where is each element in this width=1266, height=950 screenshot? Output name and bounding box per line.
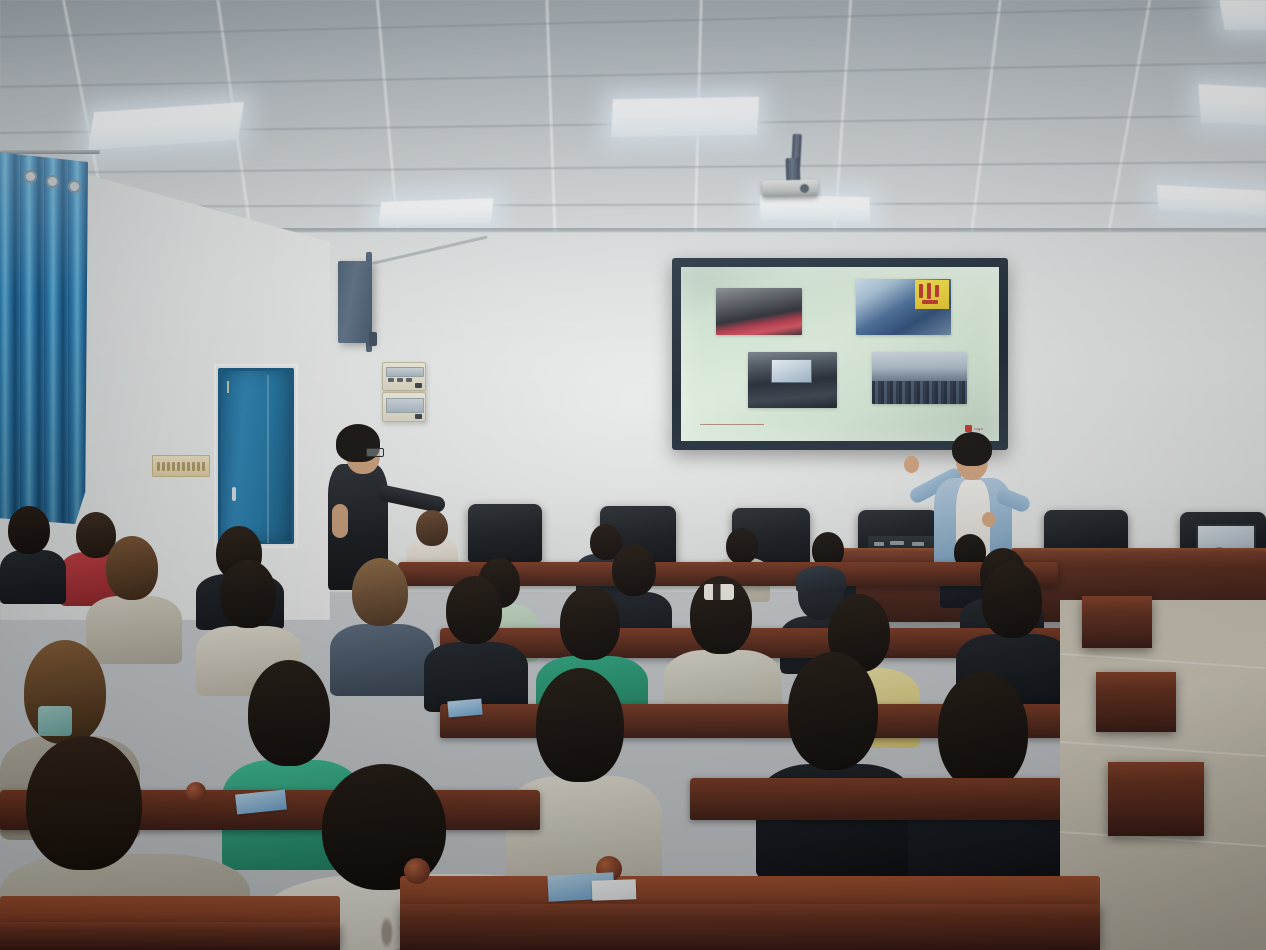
slide-photo-bottom-right xyxy=(872,352,967,404)
door-handle[interactable] xyxy=(232,487,236,501)
bench-desk[interactable] xyxy=(1108,762,1204,836)
ceiling-light xyxy=(1198,84,1266,130)
projector-lens xyxy=(800,184,809,193)
standing-man-forearm xyxy=(332,504,348,538)
wall-speaker xyxy=(338,261,372,343)
electrical-panel-upper[interactable] xyxy=(382,362,426,391)
audience-torso xyxy=(0,550,66,604)
presenter-hand xyxy=(904,456,919,473)
bench-knob xyxy=(404,858,430,884)
classroom-photo: logo xyxy=(0,0,1266,950)
speaker-mount xyxy=(369,332,377,346)
slide-photo-bottom-left xyxy=(748,352,837,408)
cap-icon xyxy=(796,566,846,592)
bench-desk[interactable] xyxy=(400,904,1100,950)
ceiling-light xyxy=(760,195,871,222)
audience-member xyxy=(0,504,66,600)
bench-desk[interactable] xyxy=(1082,596,1152,648)
bench-desk[interactable] xyxy=(0,922,340,950)
slide-poster xyxy=(915,280,949,309)
audience-head xyxy=(938,672,1028,790)
audience-member xyxy=(86,534,182,656)
hair-clip-icon xyxy=(38,706,72,736)
slide-photo-top-right xyxy=(856,279,951,335)
ceiling-light xyxy=(1157,185,1266,217)
audience-head xyxy=(106,536,158,600)
ceiling-light xyxy=(378,198,493,227)
audience-head xyxy=(8,506,50,554)
slide-photo-top-left xyxy=(716,288,802,335)
wall-sign xyxy=(152,455,210,477)
slide-caption-rule xyxy=(700,424,764,425)
classroom-door[interactable] xyxy=(218,368,294,544)
ceiling-light xyxy=(611,97,759,138)
projector xyxy=(762,180,818,198)
ceiling-light xyxy=(1219,0,1266,30)
curtain-grommet xyxy=(24,170,37,183)
curtain-grommet xyxy=(68,180,81,193)
slide-inner-screen xyxy=(771,359,812,383)
audience-member xyxy=(756,652,916,866)
front-chair[interactable] xyxy=(468,504,542,562)
audience-head xyxy=(446,576,502,644)
bench-desk[interactable] xyxy=(1096,672,1176,732)
slide-crowd xyxy=(872,381,967,404)
audience-head xyxy=(352,558,408,626)
audience-head xyxy=(220,560,276,628)
presenter-hand-lower xyxy=(982,512,996,527)
hair-clip-icon xyxy=(704,584,734,600)
curtain-highlight xyxy=(0,152,88,524)
audience-head xyxy=(726,528,758,564)
ceiling-light xyxy=(88,102,244,150)
handout-booklet[interactable] xyxy=(592,879,637,901)
audience-head xyxy=(982,562,1042,638)
eyeglasses-icon xyxy=(366,448,384,457)
audience-head xyxy=(416,510,448,546)
curtain-grommet xyxy=(46,175,59,188)
audience-head xyxy=(788,652,878,770)
audience-head xyxy=(560,586,620,660)
curtain-rail xyxy=(0,150,100,154)
audience-head xyxy=(248,660,330,766)
bench-back[interactable] xyxy=(690,778,1100,820)
handout-booklet[interactable] xyxy=(447,699,482,718)
audience-head xyxy=(26,736,142,870)
slide-surface: logo xyxy=(681,267,999,441)
presenter-hair xyxy=(952,432,992,466)
